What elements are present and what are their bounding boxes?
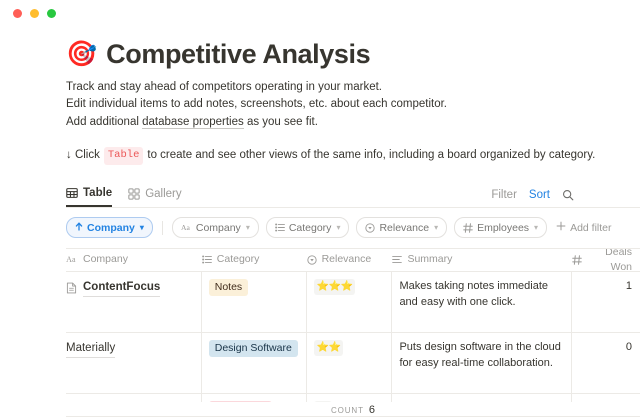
cell-category[interactable]: Design Software xyxy=(202,333,307,393)
row-title-text: Materially xyxy=(66,340,115,358)
description-line-1: Track and stay ahead of competitors oper… xyxy=(66,79,640,96)
filter-button[interactable]: Filter xyxy=(491,189,517,201)
gallery-icon xyxy=(128,188,140,200)
property-chip-employees-label: Employees xyxy=(477,222,529,234)
column-header-company[interactable]: Aa Company xyxy=(66,249,202,271)
page-description: Track and stay ahead of competitors oper… xyxy=(66,79,640,131)
cell-summary[interactable]: Puts design software in the cloud for ea… xyxy=(392,333,572,393)
property-chip-company[interactable]: Aa Company ▾ xyxy=(172,217,259,238)
database-table: Aa Company Category xyxy=(66,248,640,417)
property-chip-company-label: Company xyxy=(196,222,241,234)
chevron-down-icon: ▾ xyxy=(534,223,538,232)
sort-chip-company[interactable]: Company ▾ xyxy=(66,217,153,238)
callout-prefix: ↓ Click xyxy=(66,147,100,164)
page-header: 🎯 Competitive Analysis xyxy=(66,40,640,70)
column-header-deals-won-label: Deals Won xyxy=(587,249,632,271)
multiselect-property-icon xyxy=(202,255,212,264)
description-line-3: Add additional database properties as yo… xyxy=(66,114,640,131)
column-header-category-label: Category xyxy=(217,252,260,267)
chevron-down-icon: ▾ xyxy=(434,223,438,232)
add-filter-label: Add filter xyxy=(570,222,611,234)
filter-sort-chipbar: Company ▾ Aa Company ▾ Category ▾ xyxy=(66,218,640,238)
number-property-icon xyxy=(463,223,473,233)
window-titlebar xyxy=(0,0,640,26)
text-block-property-icon xyxy=(392,255,402,264)
minimize-window-button[interactable] xyxy=(30,9,39,18)
cell-company[interactable]: Materially xyxy=(66,333,202,393)
multiselect-property-icon xyxy=(275,223,285,232)
view-actions: Filter Sort xyxy=(491,189,574,207)
deals-won-value: 0 xyxy=(626,341,632,353)
select-property-icon xyxy=(365,223,375,233)
property-chip-employees[interactable]: Employees ▾ xyxy=(454,217,547,238)
plus-icon xyxy=(556,221,566,234)
cell-relevance[interactable]: ⭐⭐⭐ xyxy=(307,272,393,332)
summary-text: Makes taking notes immediate and easy wi… xyxy=(399,280,548,308)
table-header-row: Aa Company Category xyxy=(66,249,640,272)
callout-code-chip: Table xyxy=(104,147,144,165)
maximize-window-button[interactable] xyxy=(47,9,56,18)
view-tabs: Table Gallery xyxy=(66,187,491,207)
description-suffix: as you see fit. xyxy=(244,116,318,128)
table-icon xyxy=(66,187,78,199)
sort-button[interactable]: Sort xyxy=(529,189,550,201)
column-header-summary[interactable]: Summary xyxy=(392,249,572,271)
cell-deals-won[interactable]: 1 xyxy=(572,272,640,332)
number-property-icon xyxy=(572,255,582,265)
chevron-down-icon: ▾ xyxy=(336,223,340,232)
select-property-icon xyxy=(307,255,317,265)
cell-company[interactable]: ContentFocus xyxy=(66,272,202,332)
callout-suffix: to create and see other views of the sam… xyxy=(147,147,595,164)
search-icon[interactable] xyxy=(562,189,574,201)
row-title[interactable]: Materially xyxy=(66,340,193,358)
column-header-summary-label: Summary xyxy=(407,252,452,267)
summary-text: Puts design software in the cloud for ea… xyxy=(399,341,560,369)
svg-text:Aa: Aa xyxy=(181,223,190,232)
relevance-stars: ⭐⭐ xyxy=(314,340,344,356)
property-chip-relevance-label: Relevance xyxy=(379,222,429,234)
chevron-down-icon: ▾ xyxy=(246,223,250,232)
table-row[interactable]: ContentFocus Notes ⭐⭐⭐ Makes taking note… xyxy=(66,272,640,333)
category-tag: Notes xyxy=(209,279,248,296)
tab-gallery-label: Gallery xyxy=(145,188,181,200)
tab-table-label: Table xyxy=(83,187,112,199)
cell-category[interactable]: Notes xyxy=(202,272,307,332)
callout-hint: ↓ Click Table to create and see other vi… xyxy=(66,147,640,165)
count-value: 6 xyxy=(369,404,375,416)
svg-text:Aa: Aa xyxy=(66,256,76,265)
page-title: Competitive Analysis xyxy=(106,40,370,70)
text-property-icon: Aa xyxy=(181,223,192,232)
add-filter-button[interactable]: Add filter xyxy=(554,221,611,234)
category-tag: Design Software xyxy=(209,340,298,357)
property-chip-relevance[interactable]: Relevance ▾ xyxy=(356,217,447,238)
column-header-deals-won[interactable]: Deals Won xyxy=(572,249,640,271)
cell-summary[interactable]: Makes taking notes immediate and easy wi… xyxy=(392,272,572,332)
arrow-up-icon xyxy=(75,222,83,234)
deals-won-value: 1 xyxy=(626,280,632,292)
text-property-icon: Aa xyxy=(66,255,78,264)
cell-deals-won[interactable]: 0 xyxy=(572,333,640,393)
description-line-2: Edit individual items to add notes, scre… xyxy=(66,96,640,113)
column-header-relevance[interactable]: Relevance xyxy=(307,249,393,271)
property-chip-category[interactable]: Category ▾ xyxy=(266,217,350,238)
chevron-down-icon: ▾ xyxy=(140,223,144,232)
column-header-relevance-label: Relevance xyxy=(322,252,372,267)
page-icon[interactable] xyxy=(66,282,77,294)
tab-table[interactable]: Table xyxy=(66,187,112,207)
count-label: Count xyxy=(331,406,364,415)
column-header-company-label: Company xyxy=(83,252,128,267)
cell-relevance[interactable]: ⭐⭐ xyxy=(307,333,393,393)
page-container: 🎯 Competitive Analysis Track and stay ah… xyxy=(0,40,640,417)
row-count-summary[interactable]: Count 6 xyxy=(66,402,640,416)
view-toolbar: Table Gallery Filter Sort xyxy=(66,181,640,208)
row-title[interactable]: ContentFocus xyxy=(66,279,193,297)
target-icon[interactable]: 🎯 xyxy=(66,42,97,67)
sort-chip-label: Company xyxy=(87,222,135,234)
column-header-category[interactable]: Category xyxy=(202,249,307,271)
relevance-stars: ⭐⭐⭐ xyxy=(314,279,356,295)
chipbar-divider xyxy=(162,221,163,235)
table-row[interactable]: Materially Design Software ⭐⭐ Puts desig… xyxy=(66,333,640,394)
row-title-text: ContentFocus xyxy=(83,279,160,297)
close-window-button[interactable] xyxy=(13,9,22,18)
tab-gallery[interactable]: Gallery xyxy=(128,188,181,206)
description-prefix: Add additional xyxy=(66,116,142,128)
database-properties-link[interactable]: database properties xyxy=(142,116,244,129)
property-chip-category-label: Category xyxy=(289,222,332,234)
